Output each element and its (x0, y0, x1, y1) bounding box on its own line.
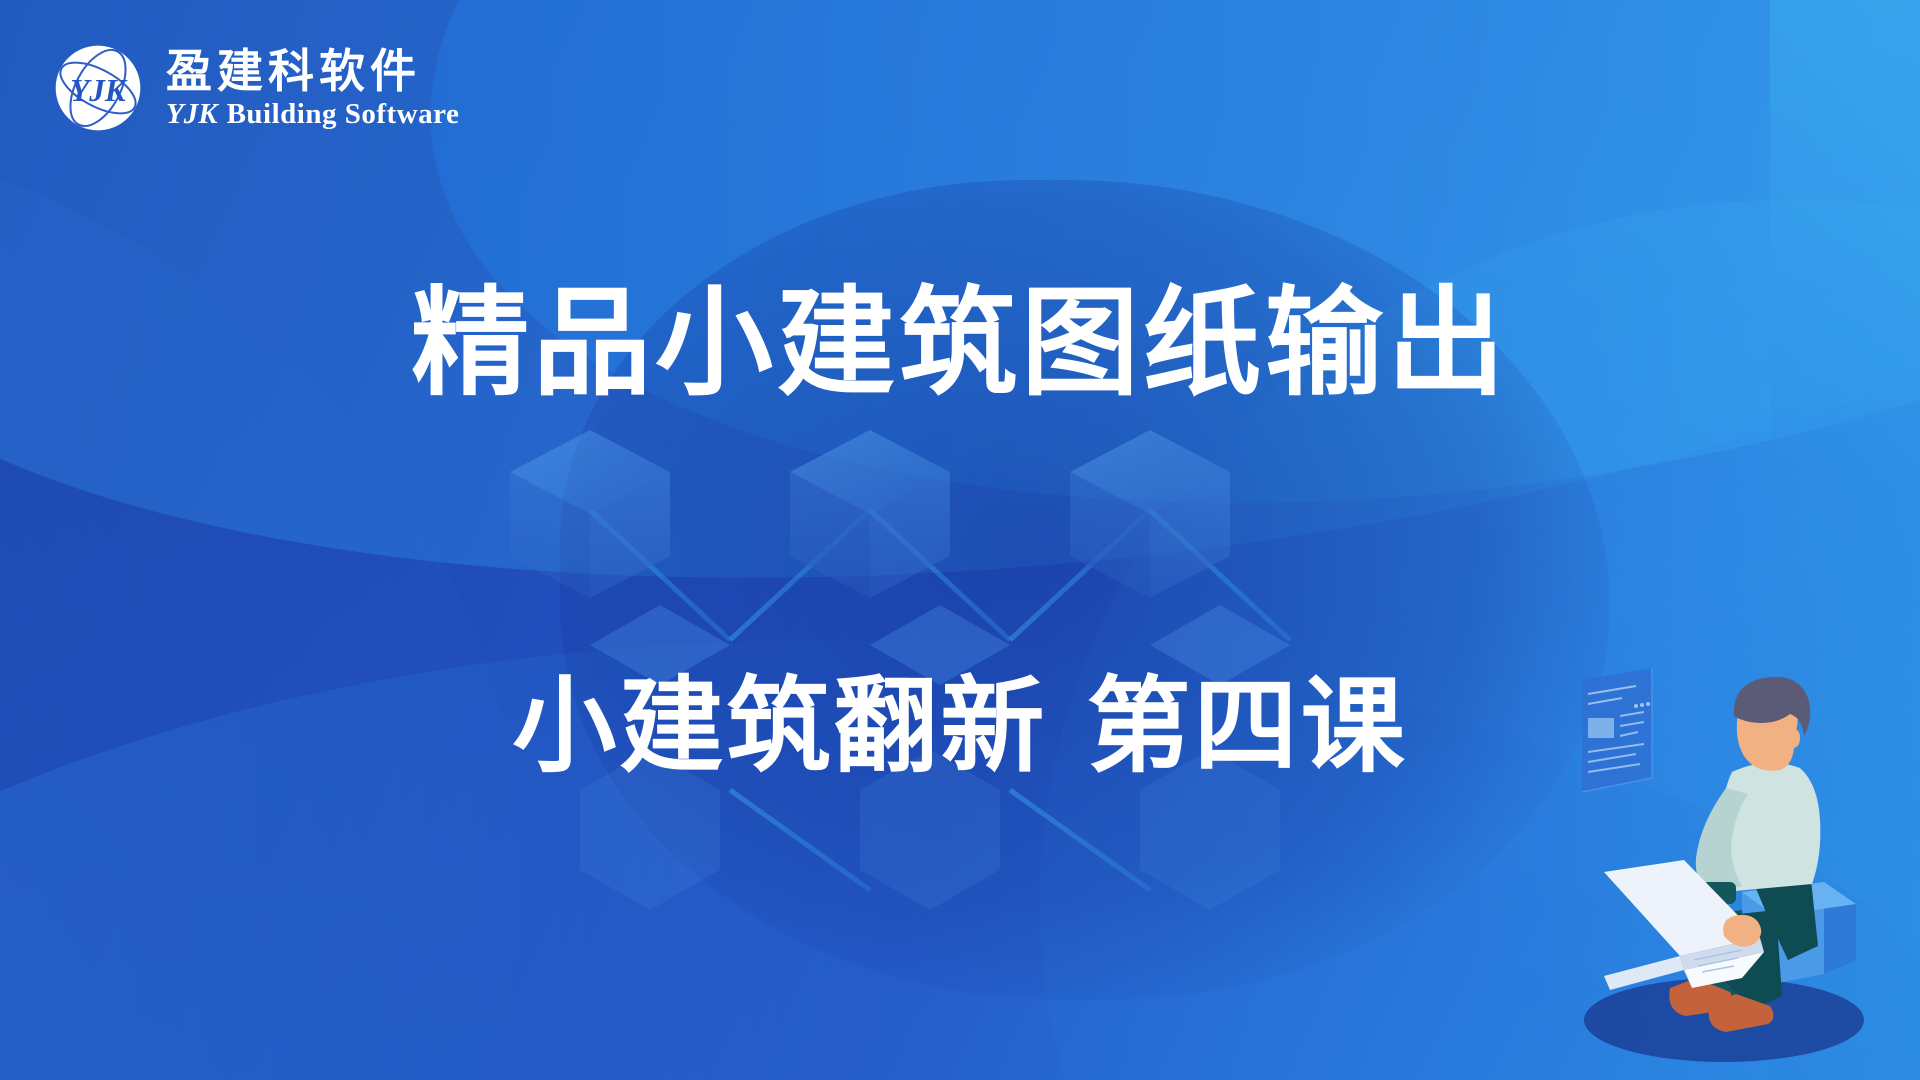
person-shoe-front (1709, 994, 1774, 1032)
headline-line-1: 精品小建筑图纸输出 (0, 282, 1920, 406)
brand-name-en: YJKBuilding Software (166, 100, 459, 129)
brand-name-en-rest: Building Software (227, 98, 460, 130)
brand-logo: YJK 盈建科软件 YJKBuilding Software (52, 42, 459, 134)
brand-name-cn: 盈建科软件 (166, 48, 459, 94)
person-torso (1719, 763, 1821, 892)
yjk-globe-logo-icon: YJK (52, 42, 144, 134)
cube-seat-shape (1742, 882, 1856, 990)
person-hip (1750, 870, 1818, 960)
subheadline-block: 小建筑翻新 第四课 (0, 672, 1920, 781)
background-wave-left (0, 120, 520, 1080)
person-leg-front (1720, 910, 1782, 1010)
person-arm (1696, 788, 1748, 894)
brand-name-en-mark: YJK (166, 98, 218, 130)
background-right-edge-band (1770, 0, 1920, 1080)
svg-text:YJK: YJK (70, 73, 128, 108)
person-hand (1723, 915, 1761, 947)
slide-canvas: YJK 盈建科软件 YJKBuilding Software 精品小建筑图纸输出… (0, 0, 1920, 1080)
floor-shadow (1584, 978, 1864, 1062)
person-cuff (1702, 882, 1736, 904)
subheadline-line-1: 小建筑翻新 第四课 (0, 672, 1920, 781)
headline-block: 精品小建筑图纸输出 (0, 282, 1920, 406)
person-leg-back (1682, 910, 1750, 1006)
laptop-icon (1604, 860, 1764, 990)
person-shoe-back (1669, 978, 1732, 1016)
